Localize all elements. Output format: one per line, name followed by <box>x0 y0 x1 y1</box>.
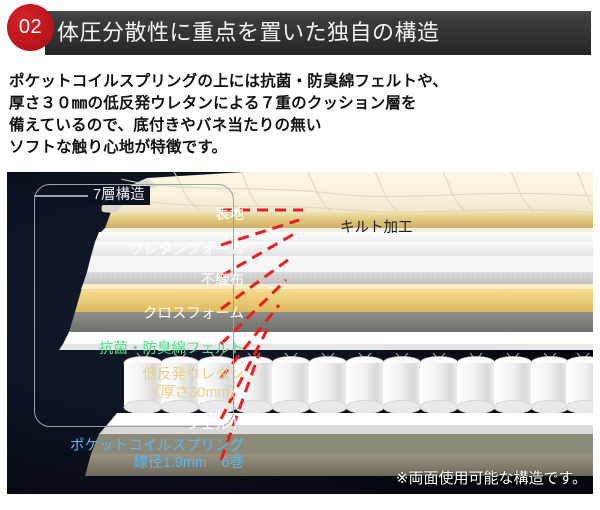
layer-label-urethane-foam: ウレタンフォーム <box>129 243 244 258</box>
quilt-processing-label: キルト加工 <box>340 216 413 237</box>
box-title: 7層構造 <box>88 186 150 205</box>
layer-label-nonwoven: 不織布 <box>201 274 245 289</box>
section-header: 体圧分散性に重点を置いた独自の構造 02 <box>0 0 600 66</box>
footnote-both-sides: ※両面使用可能な構造です。 <box>396 470 587 488</box>
layer-label-felt: フェルト <box>186 418 244 433</box>
layer-label-low-rebound: 低反発ウレタン <box>143 368 245 383</box>
layer-label-antibac-felt: 抗菌・防臭綿フェルト <box>99 342 244 357</box>
layer-label-omotechi: 表地 <box>215 208 244 223</box>
lead-paragraph: ポケットコイルスプリングの上には抗菌・防臭綿フェルトや、 厚さ３０㎜の低反発ウレ… <box>9 70 589 158</box>
structure-diagram-panel: 7層構造 表地 ウレタンフォーム 不織布 クロスフォーム 抗菌・防臭綿フェルト … <box>7 172 593 494</box>
section-number-badge: 02 <box>7 4 54 51</box>
layer-label-cross-foam: クロスフォーム <box>143 307 244 322</box>
page-title: 体圧分散性に重点を置いた独自の構造 <box>57 13 577 53</box>
pocket-coil-spring-label: ポケットコイルスプリング 線径1.9mm 6巻 <box>22 438 244 472</box>
layer-label-low-rebound-thickness: （厚さ30mm） <box>146 386 244 401</box>
box-title-rule <box>34 195 88 197</box>
